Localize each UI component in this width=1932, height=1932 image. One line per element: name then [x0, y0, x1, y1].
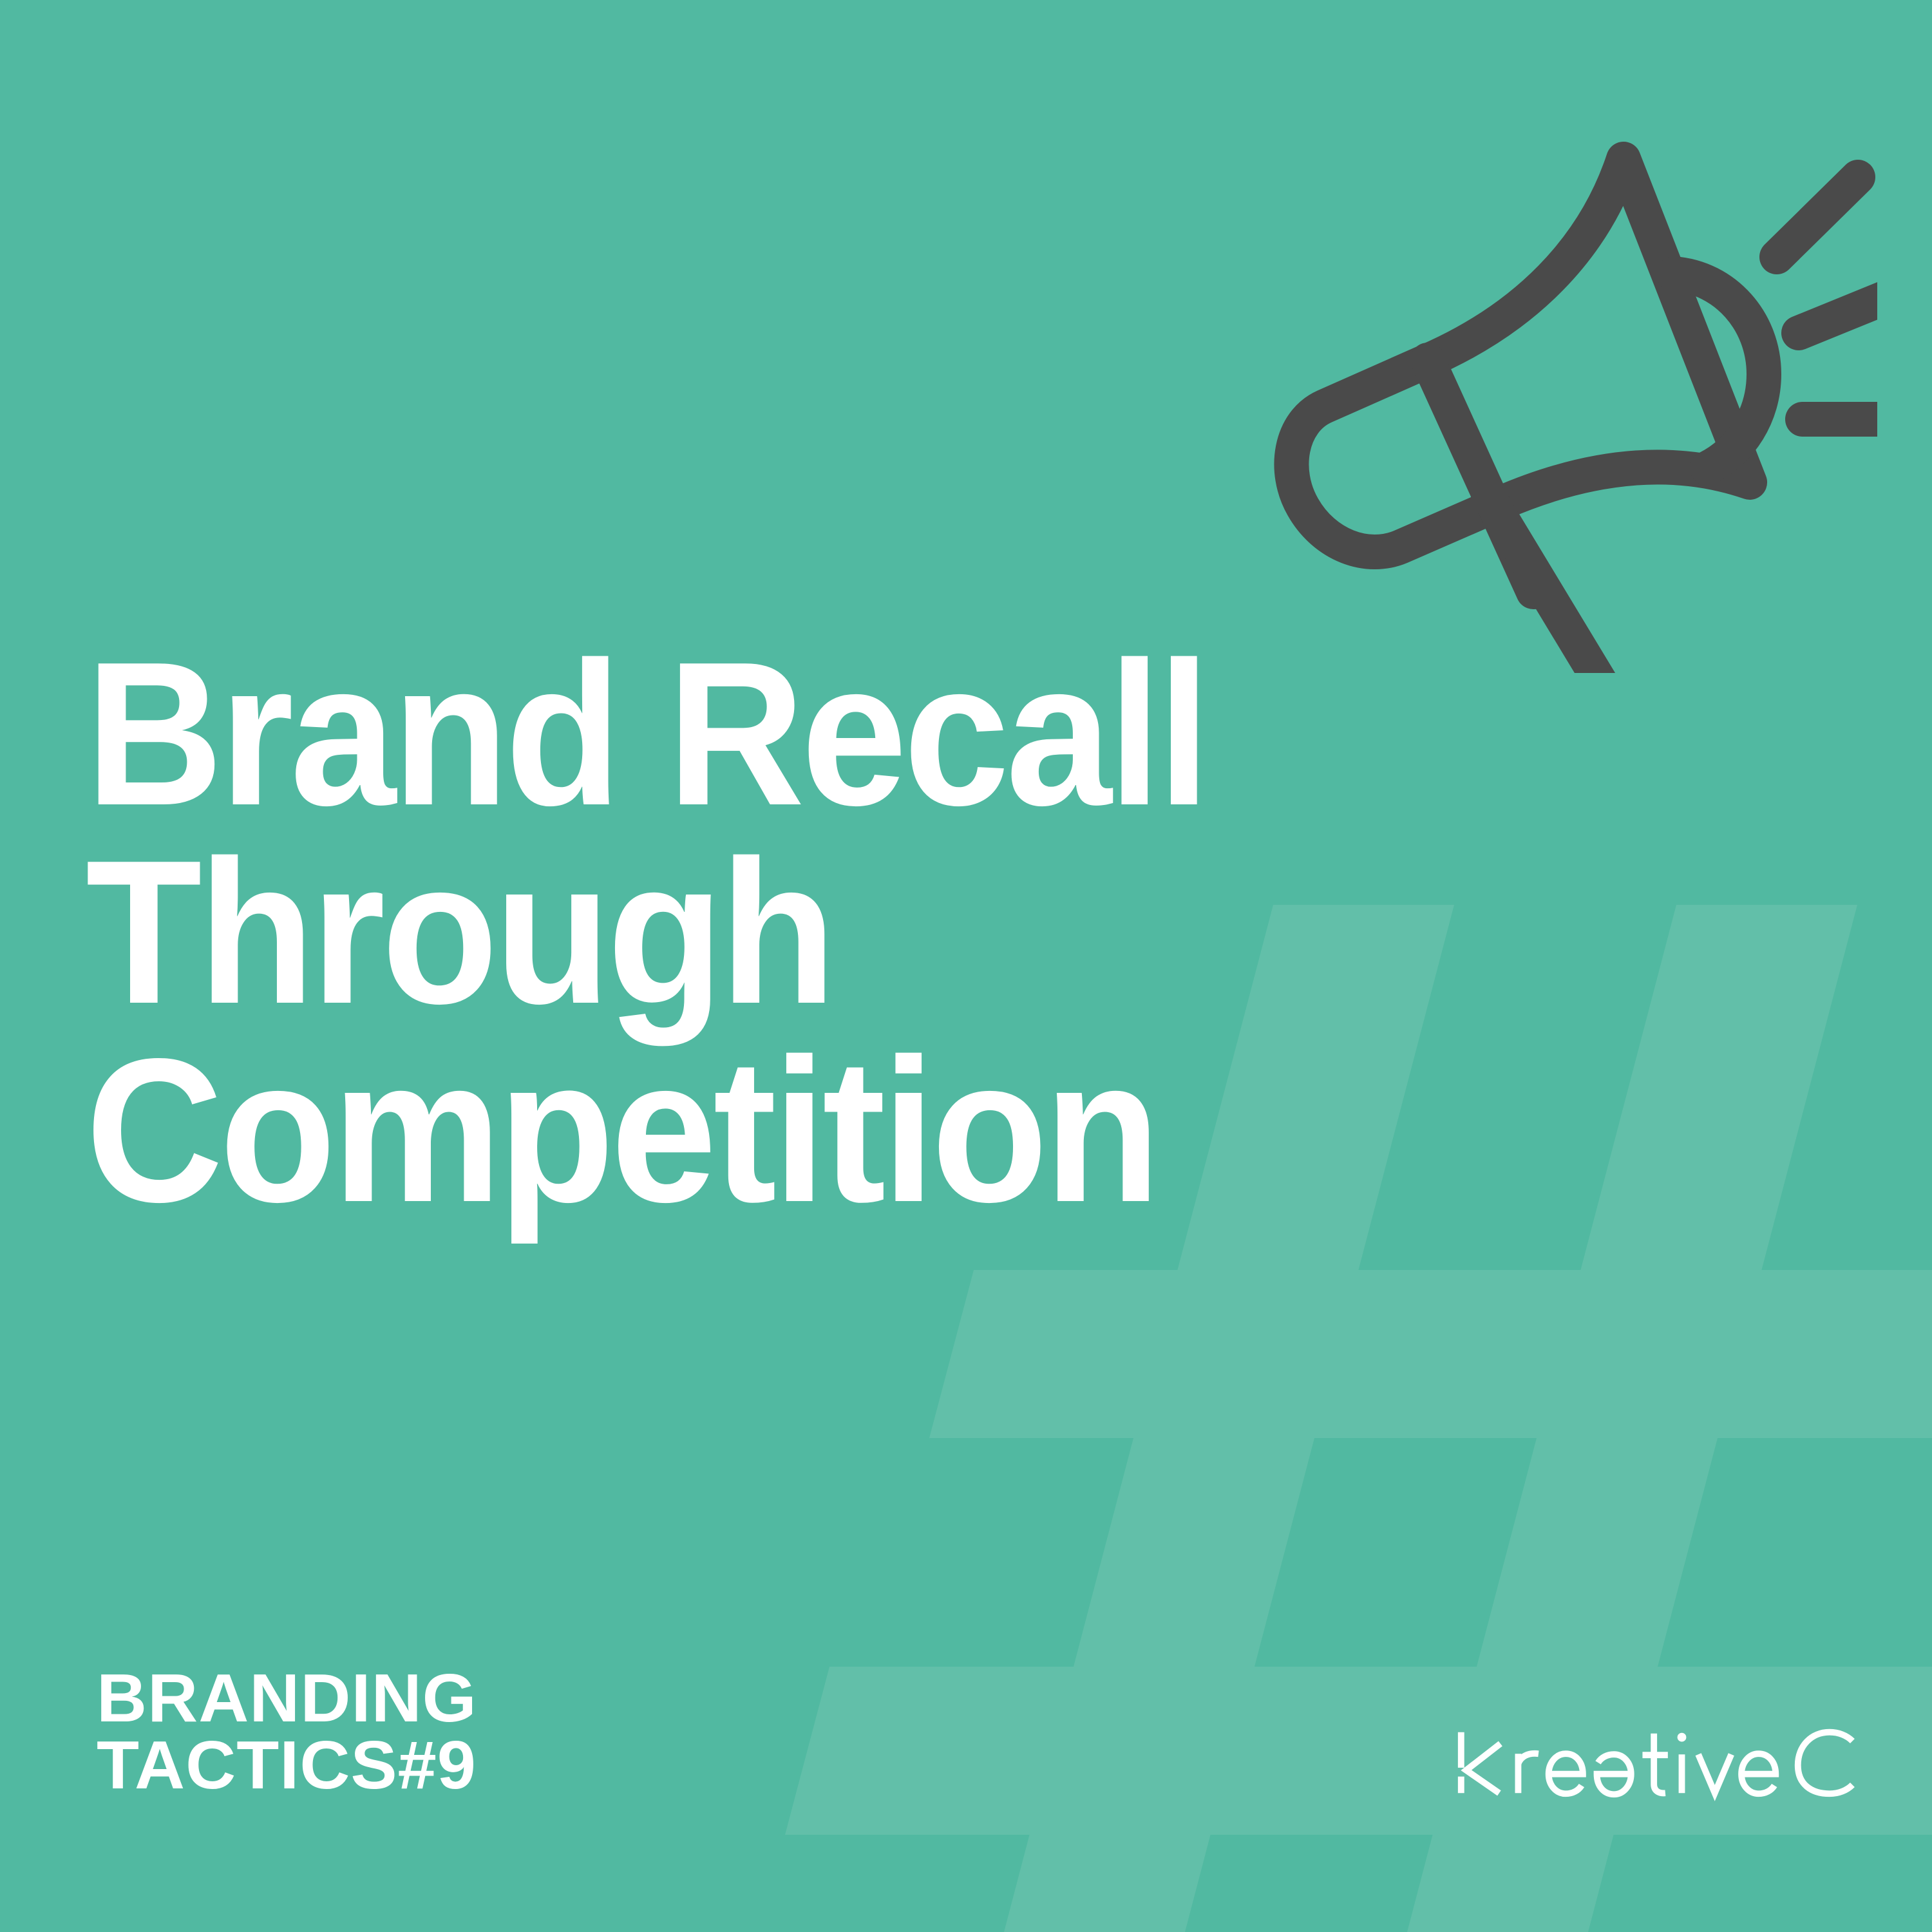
series-kicker: BRANDING TACTICS#9 [97, 1665, 469, 1799]
page-title: Brand Recall Through Competition [86, 635, 1567, 1230]
kicker-line-1: BRANDING [97, 1665, 477, 1732]
headline-line-2: Through [86, 833, 1463, 1032]
brand-logo: R [1452, 1721, 1858, 1804]
kreative-clan-wordmark-icon: R [1452, 1721, 1858, 1804]
headline-line-1: Brand Recall [86, 635, 1463, 833]
kicker-line-2: TACTICS#9 [97, 1732, 477, 1799]
social-post-card: Brand Recall Through Competition BRANDIN… [0, 0, 1932, 1932]
headline-line-3: Competition [86, 1032, 1463, 1230]
megaphone-icon [1272, 126, 1877, 673]
